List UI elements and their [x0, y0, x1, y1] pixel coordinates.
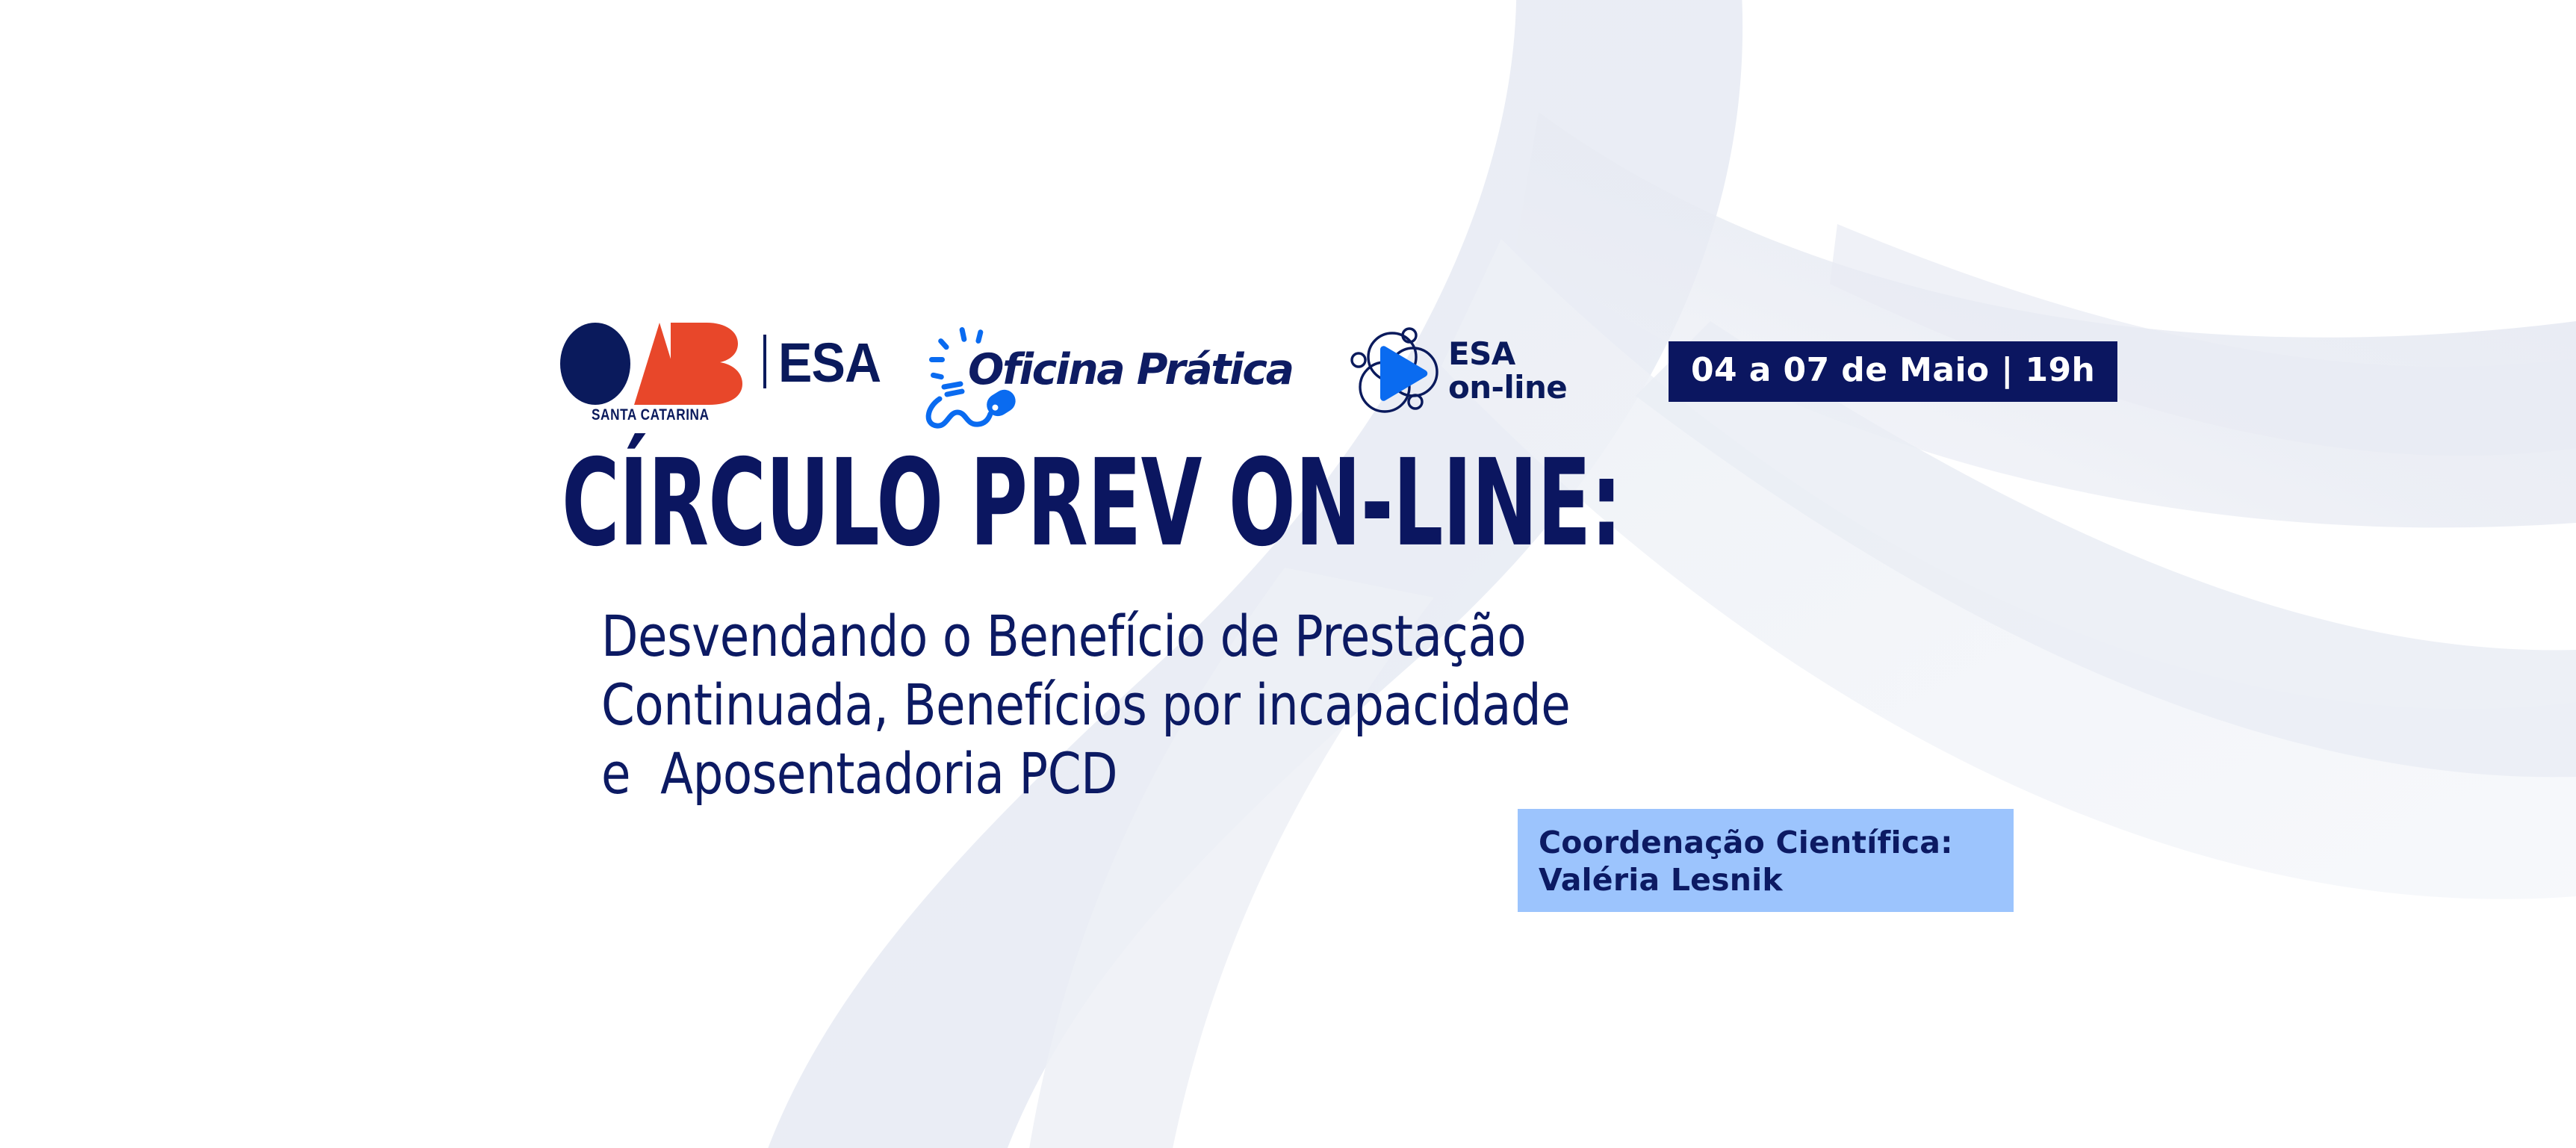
coordination-label: Coordenação Científica:: [1539, 824, 2014, 861]
oficina-pratica-logo: Oficina Prática: [919, 320, 1307, 432]
subtitle-line-2: Continuada, Benefícios por incapacidade: [601, 671, 1570, 739]
oab-sc-esa-logo: SANTA CATARINA ESA: [560, 320, 874, 432]
logo-divider: [763, 335, 766, 388]
oab-wordmark-icon: [560, 323, 751, 405]
play-circles-icon: [1349, 324, 1453, 425]
logo-row: SANTA CATARINA ESA: [560, 320, 2117, 432]
esa-online-label: ESA on-line: [1448, 338, 1567, 404]
subtitle-line-1: Desvendando o Benefício de Prestação: [601, 602, 1570, 671]
scientific-coordination-box: Coordenação Científica: Valéria Lesnik: [1518, 809, 2014, 912]
subtitle-line-3: e Aposentadoria PCD: [601, 739, 1570, 808]
oab-state-label: SANTA CATARINA: [592, 406, 710, 424]
esa-online-logo: ESA on-line: [1346, 320, 1570, 432]
esa-online-line1: ESA: [1448, 338, 1567, 371]
banner-content: SANTA CATARINA ESA: [0, 0, 2576, 1148]
date-time-badge: 04 a 07 de Maio | 19h: [1669, 341, 2117, 402]
coordination-name: Valéria Lesnik: [1539, 861, 2014, 899]
oficina-pratica-label: Oficina Prática: [968, 345, 1293, 394]
event-subtitle: Desvendando o Benefício de Prestação Con…: [601, 602, 1570, 808]
esa-label: ESA: [778, 341, 881, 386]
event-main-title: CÍRCULO PREV ON-LINE:: [562, 444, 1621, 564]
esa-online-line2: on-line: [1448, 371, 1567, 405]
